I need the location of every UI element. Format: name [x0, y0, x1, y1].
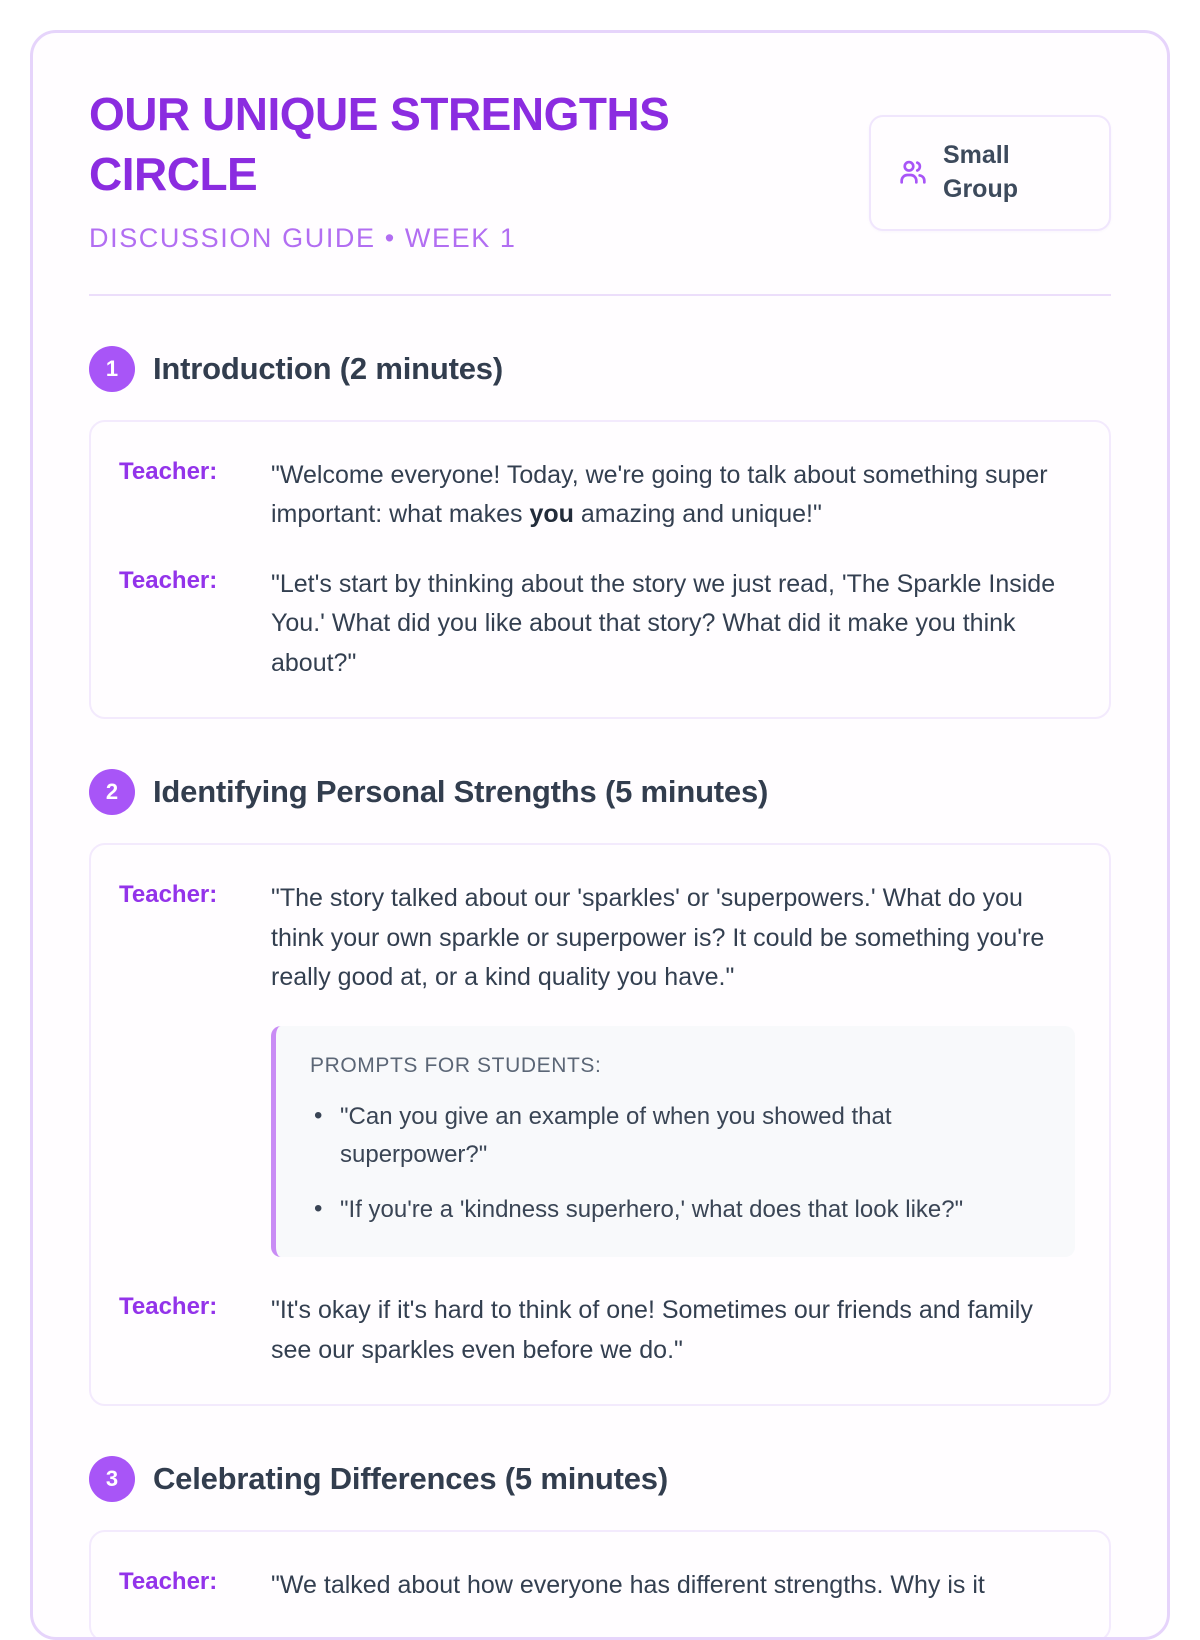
section-title: Celebrating Differences (5 minutes) [153, 1461, 668, 1497]
speaker-label: Teacher: [119, 565, 271, 595]
dialogue-body: "It's okay if it's hard to think of one!… [271, 1291, 1075, 1370]
dialogue-text: "It's okay if it's hard to think of one!… [271, 1291, 1075, 1370]
section-header: 2 Identifying Personal Strengths (5 minu… [89, 769, 1111, 815]
header-divider [89, 294, 1111, 296]
header-text-block: OUR UNIQUE STRENGTHS CIRCLE DISCUSSION G… [89, 85, 845, 254]
section-introduction: 1 Introduction (2 minutes) Teacher: "Wel… [89, 346, 1111, 720]
step-number-badge: 2 [89, 769, 135, 815]
speaker-label: Teacher: [119, 456, 271, 486]
dialogue-text: "Let's start by thinking about the story… [271, 565, 1075, 684]
group-size-badge[interactable]: Small Group [869, 115, 1111, 231]
prompts-callout: PROMPTS FOR STUDENTS: "Can you give an e… [271, 1026, 1075, 1258]
prompts-list: "Can you give an example of when you sho… [310, 1098, 1045, 1230]
dialogue-emphasis: you [529, 500, 573, 528]
page-title: OUR UNIQUE STRENGTHS CIRCLE [89, 85, 749, 205]
step-number-badge: 1 [89, 346, 135, 392]
prompts-heading: PROMPTS FOR STUDENTS: [310, 1054, 1045, 1078]
dialogue-row: Teacher: "The story talked about our 'sp… [119, 879, 1075, 1261]
section-identifying-personal-strengths: 2 Identifying Personal Strengths (5 minu… [89, 769, 1111, 1406]
dialogue-body: "The story talked about our 'sparkles' o… [271, 879, 1075, 1261]
section-title: Identifying Personal Strengths (5 minute… [153, 774, 768, 810]
dialogue-body: "Welcome everyone! Today, we're going to… [271, 456, 1075, 535]
speaker-label: Teacher: [119, 1291, 271, 1321]
speaker-label: Teacher: [119, 879, 271, 909]
section-header: 1 Introduction (2 minutes) [89, 346, 1111, 392]
dialogue-row: Teacher: "It's okay if it's hard to thin… [119, 1291, 1075, 1370]
dialogue-card: Teacher: "We talked about how everyone h… [89, 1530, 1111, 1640]
document-body: OUR UNIQUE STRENGTHS CIRCLE DISCUSSION G… [33, 33, 1167, 1640]
section-header: 3 Celebrating Differences (5 minutes) [89, 1456, 1111, 1502]
dialogue-text: "Welcome everyone! Today, we're going to… [271, 456, 1075, 535]
list-item: "If you're a 'kindness superhero,' what … [310, 1191, 1045, 1229]
dialogue-row: Teacher: "Let's start by thinking about … [119, 565, 1075, 684]
section-celebrating-differences: 3 Celebrating Differences (5 minutes) Te… [89, 1456, 1111, 1640]
page-subtitle: DISCUSSION GUIDE • WEEK 1 [89, 223, 845, 254]
document-frame: OUR UNIQUE STRENGTHS CIRCLE DISCUSSION G… [30, 30, 1170, 1640]
dialogue-body: "Let's start by thinking about the story… [271, 565, 1075, 684]
group-size-label: Small Group [943, 139, 1063, 207]
list-item: "Can you give an example of when you sho… [310, 1098, 1045, 1174]
dialogue-text: "The story talked about our 'sparkles' o… [271, 879, 1075, 998]
document-header: OUR UNIQUE STRENGTHS CIRCLE DISCUSSION G… [89, 85, 1111, 254]
dialogue-text-after: amazing and unique!" [574, 500, 822, 528]
users-icon [897, 157, 929, 189]
dialogue-card: Teacher: "The story talked about our 'sp… [89, 843, 1111, 1406]
section-title: Introduction (2 minutes) [153, 351, 503, 387]
dialogue-row: Teacher: "Welcome everyone! Today, we're… [119, 456, 1075, 535]
speaker-label: Teacher: [119, 1566, 271, 1596]
step-number-badge: 3 [89, 1456, 135, 1502]
dialogue-card: Teacher: "Welcome everyone! Today, we're… [89, 420, 1111, 720]
